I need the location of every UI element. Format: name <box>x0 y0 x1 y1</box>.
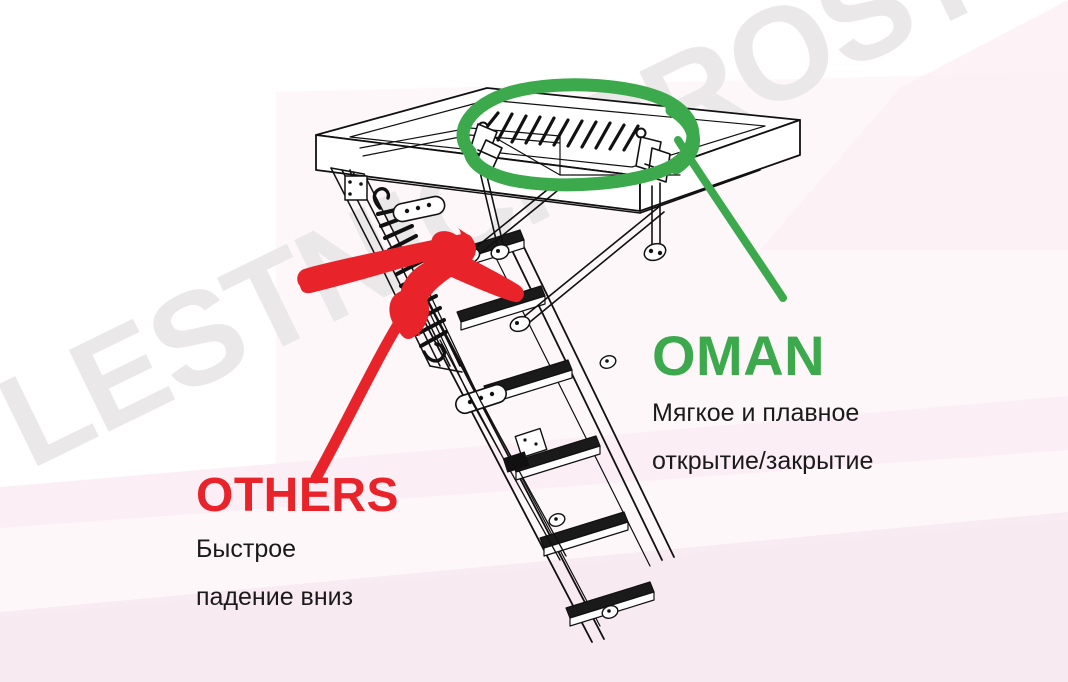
oman-subtitle-line-1: Мягкое и плавное <box>652 396 873 432</box>
others-title: OTHERS <box>196 472 399 520</box>
callout-labels-layer: OMAN Мягкое и плавное открытие/закрытие … <box>0 0 1068 682</box>
others-subtitle-line-1: Быстрое <box>196 532 399 568</box>
illustration-canvas: LESTNICI-PROSTO.RU <box>0 0 1068 682</box>
callout-others: OTHERS Быстрое падение вниз <box>196 472 399 615</box>
callout-oman: OMAN Мягкое и плавное открытие/закрытие <box>652 328 873 479</box>
oman-subtitle-line-2: открытие/закрытие <box>652 444 873 480</box>
others-subtitle-line-2: падение вниз <box>196 580 399 616</box>
oman-title: OMAN <box>652 328 873 384</box>
